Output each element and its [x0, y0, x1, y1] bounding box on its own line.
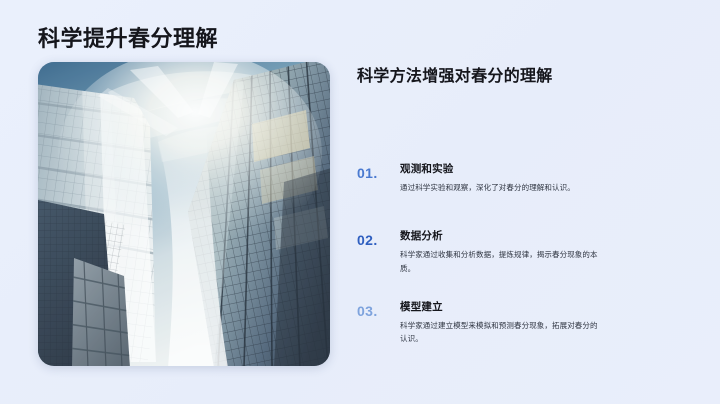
points-list: 01. 观测和实验 通过科学实验和观察，深化了对春分的理解和认识。 02. 数据… — [357, 163, 687, 345]
point-heading: 模型建立 — [400, 301, 687, 314]
point-body: 模型建立 科学家通过建立模型来模拟和预测春分现象，拓展对春分的认识。 — [400, 301, 687, 345]
point-description: 科学家通过收集和分析数据，提炼规律，揭示春分现象的本质。 — [400, 248, 605, 274]
list-item: 01. 观测和实验 通过科学实验和观察，深化了对春分的理解和认识。 — [357, 163, 687, 194]
list-item: 02. 数据分析 科学家通过收集和分析数据，提炼规律，揭示春分现象的本质。 — [357, 230, 687, 274]
presentation-slide: 科学提升春分理解 — [0, 0, 720, 404]
point-body: 观测和实验 通过科学实验和观察，深化了对春分的理解和认识。 — [400, 163, 687, 194]
point-heading: 观测和实验 — [400, 163, 687, 176]
list-item: 03. 模型建立 科学家通过建立模型来模拟和预测春分现象，拓展对春分的认识。 — [357, 301, 687, 345]
point-heading: 数据分析 — [400, 230, 687, 243]
skyscrapers-photo — [38, 62, 330, 366]
point-body: 数据分析 科学家通过收集和分析数据，提炼规律，揭示春分现象的本质。 — [400, 230, 687, 274]
hero-image-card — [38, 62, 330, 366]
point-number: 01. — [357, 165, 378, 181]
point-description: 通过科学实验和观察，深化了对春分的理解和认识。 — [400, 181, 605, 194]
point-number: 02. — [357, 232, 378, 248]
section-subtitle: 科学方法增强对春分的理解 — [357, 62, 553, 86]
point-description: 科学家通过建立模型来模拟和预测春分现象，拓展对春分的认识。 — [400, 319, 605, 345]
point-number: 03. — [357, 303, 378, 319]
page-title: 科学提升春分理解 — [38, 27, 218, 51]
